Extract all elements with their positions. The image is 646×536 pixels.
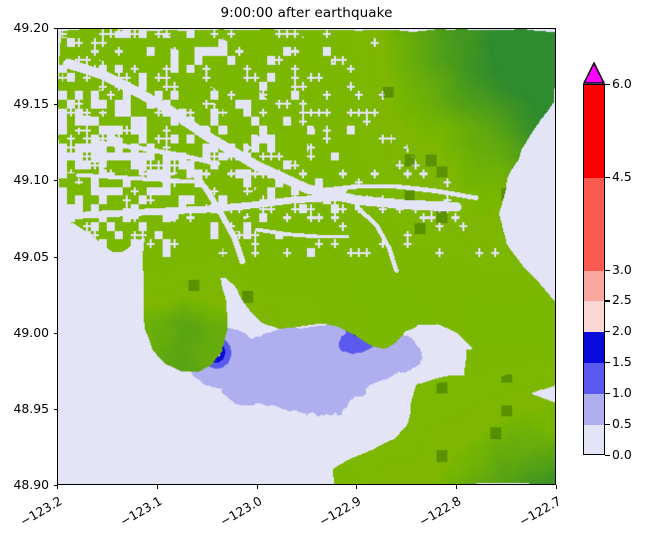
colorbar-tick-label: 1.0 bbox=[612, 385, 632, 400]
colorbar-segment bbox=[584, 271, 604, 302]
y-tick-mark bbox=[54, 180, 58, 181]
y-tick-label: 49.05 bbox=[1, 249, 49, 264]
y-tick-label: 48.90 bbox=[1, 477, 49, 492]
colorbar-tick-mark bbox=[605, 424, 610, 425]
colorbar-tick-label: 4.5 bbox=[612, 169, 632, 184]
x-tick-label: −122.7 bbox=[514, 493, 563, 530]
colorbar-tick-mark bbox=[605, 362, 610, 363]
y-tick-label: 49.10 bbox=[1, 172, 49, 187]
x-tick-label: −123.1 bbox=[115, 493, 164, 530]
y-tick-label: 49.20 bbox=[1, 20, 49, 35]
colorbar-tick-mark bbox=[605, 300, 610, 301]
x-tick-mark bbox=[556, 485, 557, 489]
colorbar-tick-mark bbox=[605, 270, 610, 271]
y-tick-label: 48.95 bbox=[1, 401, 49, 416]
colorbar-segment bbox=[584, 85, 604, 178]
colorbar-tick-mark bbox=[605, 331, 610, 332]
colorbar-tick-label: 2.5 bbox=[612, 292, 632, 307]
colorbar-segment bbox=[584, 394, 604, 425]
chart-title: 9:00:00 after earthquake bbox=[57, 5, 556, 21]
x-tick-label: −123.2 bbox=[15, 493, 64, 530]
colorbar-tick-label: 0.0 bbox=[612, 447, 632, 462]
tsunami-inundation-heatmap bbox=[58, 29, 555, 484]
x-tick-label: −122.8 bbox=[415, 493, 464, 530]
y-tick-mark bbox=[54, 409, 58, 410]
colorbar-tick-label: 6.0 bbox=[612, 76, 632, 91]
colorbar-tick-label: 1.5 bbox=[612, 354, 632, 369]
colorbar-tick-mark bbox=[605, 393, 610, 394]
colorbar-tick-label: 2.0 bbox=[612, 323, 632, 338]
colorbar-segment bbox=[584, 363, 604, 394]
colorbar-segment bbox=[584, 332, 604, 363]
colorbar-tick-label: 3.0 bbox=[612, 262, 632, 277]
colorbar-segment bbox=[584, 301, 604, 332]
x-tick-mark bbox=[456, 485, 457, 489]
x-tick-mark bbox=[157, 485, 158, 489]
colorbar-tick-mark bbox=[605, 84, 610, 85]
y-tick-mark bbox=[54, 333, 58, 334]
x-tick-mark bbox=[356, 485, 357, 489]
y-tick-mark bbox=[54, 104, 58, 105]
y-tick-mark bbox=[54, 28, 58, 29]
colorbar-segment bbox=[584, 178, 604, 271]
colorbar-gradient bbox=[583, 84, 605, 455]
y-tick-label: 49.15 bbox=[1, 96, 49, 111]
colorbar-tick-mark bbox=[605, 455, 610, 456]
map-axes[interactable] bbox=[57, 28, 556, 485]
colorbar-extend-arrow-icon bbox=[583, 62, 605, 84]
y-tick-label: 49.00 bbox=[1, 325, 49, 340]
colorbar-tick-label: 0.5 bbox=[612, 416, 632, 431]
x-tick-label: −123.0 bbox=[215, 493, 264, 530]
colorbar-segment bbox=[584, 425, 604, 455]
colorbar-tick-mark bbox=[605, 177, 610, 178]
colorbar[interactable] bbox=[583, 84, 605, 455]
x-tick-label: −122.9 bbox=[315, 493, 364, 530]
y-tick-mark bbox=[54, 257, 58, 258]
x-tick-mark bbox=[57, 485, 58, 489]
figure-canvas: 9:00:00 after earthquake 49.2049.1549.10… bbox=[0, 0, 646, 536]
x-tick-mark bbox=[257, 485, 258, 489]
